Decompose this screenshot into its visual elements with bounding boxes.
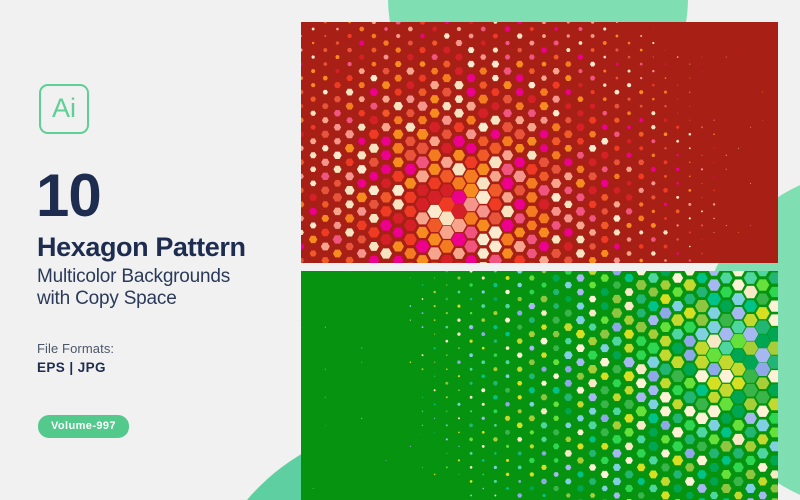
volume-badge: Volume-997 — [38, 415, 129, 438]
preview-panel-green[interactable] — [301, 271, 778, 500]
page-subtitle-line-1: Multicolor Backgrounds — [37, 266, 287, 288]
preview-panel-red[interactable] — [301, 22, 778, 263]
page-title: Hexagon Pattern — [37, 234, 246, 261]
ai-badge-label: Ai — [52, 95, 76, 122]
adobe-illustrator-badge-icon: Ai — [39, 84, 89, 134]
page-subtitle: Multicolor Backgrounds with Copy Space — [37, 266, 287, 310]
item-count: 10 — [36, 166, 101, 226]
page-subtitle-line-2: with Copy Space — [37, 288, 287, 310]
file-formats-value: EPS | JPG — [37, 360, 106, 375]
info-sidebar: Ai 10 Hexagon Pattern Multicolor Backgro… — [0, 0, 300, 500]
poster-canvas: Ai 10 Hexagon Pattern Multicolor Backgro… — [0, 0, 800, 500]
green-hexagon-pattern — [301, 271, 778, 500]
red-hexagon-pattern — [301, 22, 778, 263]
file-formats-label: File Formats: — [37, 341, 114, 356]
